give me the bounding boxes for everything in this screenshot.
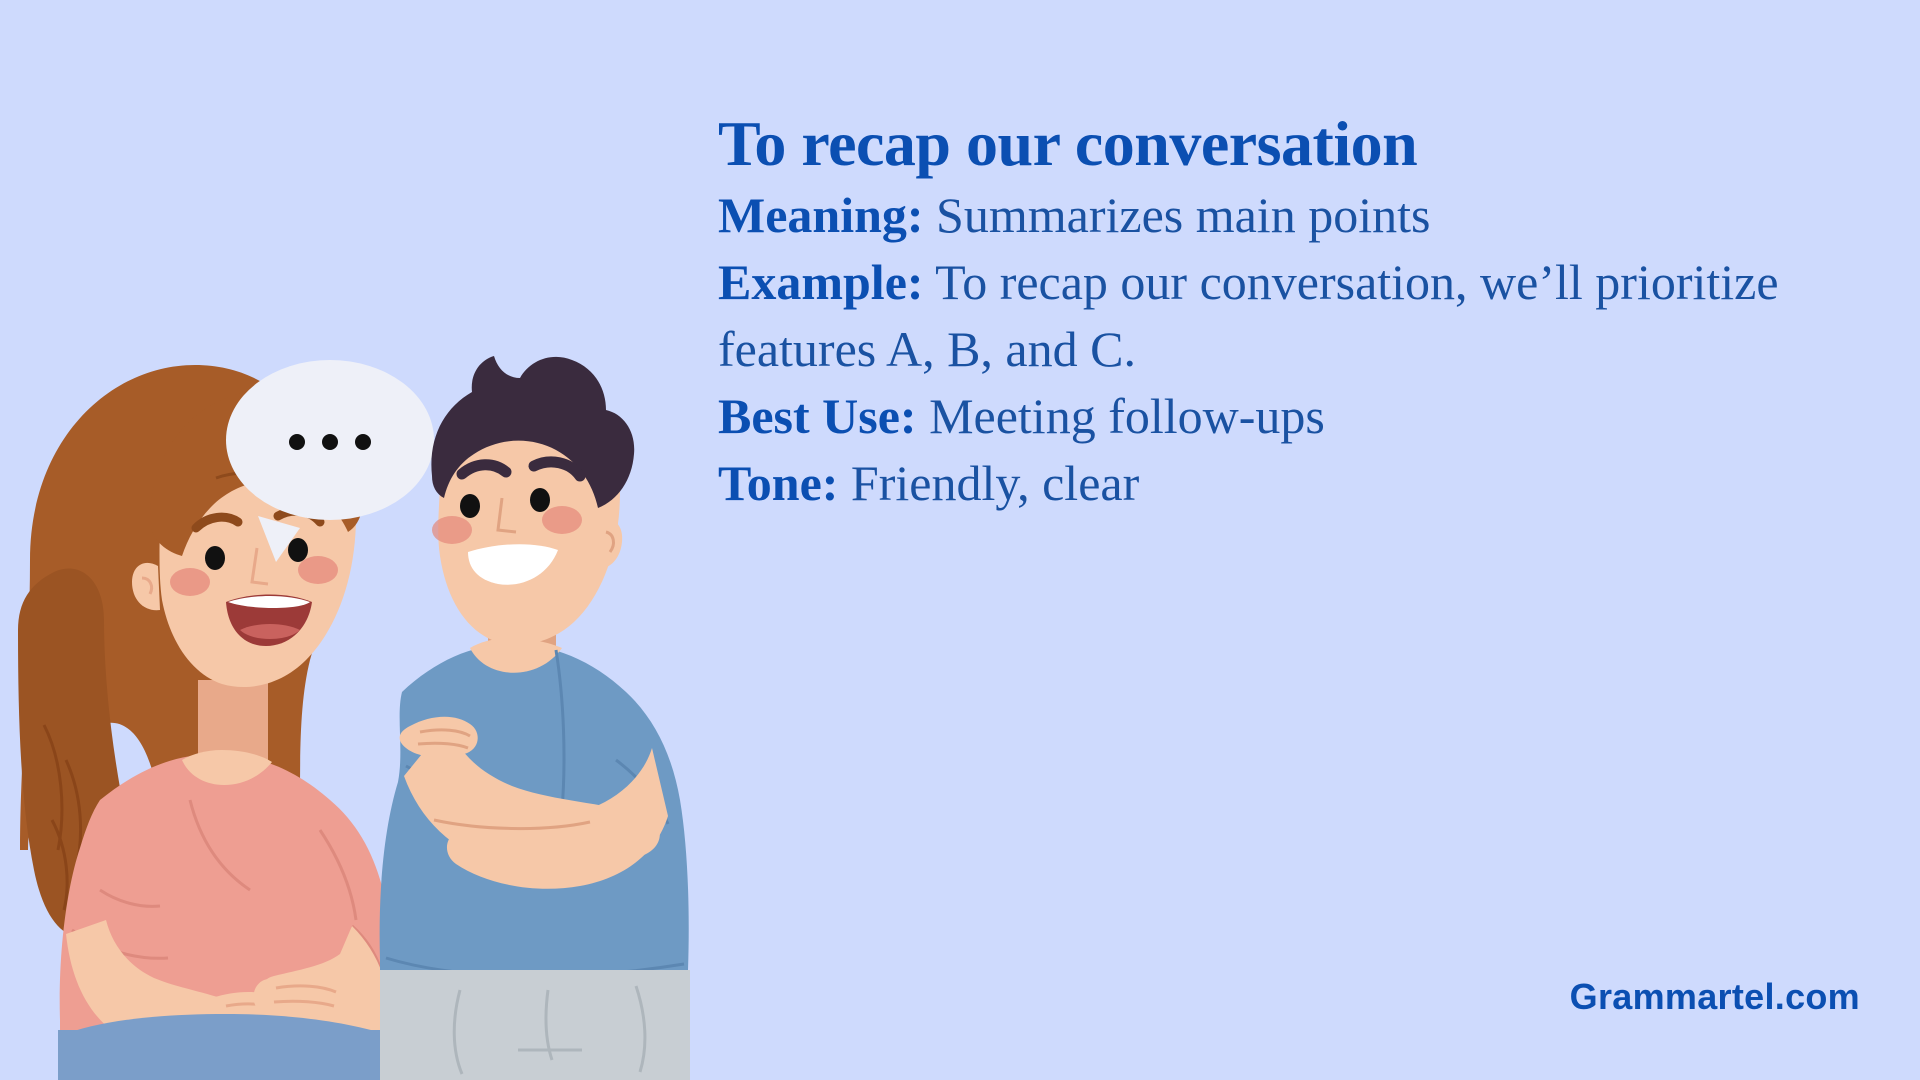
detail-label-tone: Tone: (718, 455, 838, 511)
detail-label-meaning: Meaning: (718, 187, 924, 243)
speech-bubble-dot-3 (355, 434, 371, 450)
detail-row-example: Example: To recap our conversation, we’l… (718, 249, 1848, 383)
detail-value-meaning: Summarizes main points (936, 187, 1430, 243)
woman-cheek-right (298, 556, 338, 584)
detail-label-best-use: Best Use: (718, 388, 917, 444)
detail-label-example: Example: (718, 254, 924, 310)
slide-canvas: To recap our conversation Meaning: Summa… (0, 0, 1920, 1080)
speech-bubble-dot-1 (289, 434, 305, 450)
woman-eye-left (205, 546, 225, 570)
man-cheek-left (432, 516, 472, 544)
detail-value-tone: Friendly, clear (851, 455, 1139, 511)
man-eye-right (530, 488, 550, 512)
two-people-conversation-illustration (0, 330, 700, 1080)
woman-eye-right (288, 538, 308, 562)
woman-jeans-block (58, 1030, 394, 1080)
detail-value-best-use: Meeting follow-ups (929, 388, 1325, 444)
woman-cheek-left (170, 568, 210, 596)
detail-row-meaning: Meaning: Summarizes main points (718, 182, 1848, 249)
detail-row-tone: Tone: Friendly, clear (718, 450, 1848, 517)
speech-bubble-dot-2 (322, 434, 338, 450)
content-text-block: To recap our conversation Meaning: Summa… (718, 108, 1848, 517)
detail-row-best-use: Best Use: Meeting follow-ups (718, 383, 1848, 450)
man-ear (592, 518, 622, 569)
man-eye-left (460, 494, 480, 518)
page-title: To recap our conversation (718, 108, 1848, 180)
site-branding-watermark: Grammartel.com (1570, 976, 1860, 1018)
man-cheek-right (542, 506, 582, 534)
